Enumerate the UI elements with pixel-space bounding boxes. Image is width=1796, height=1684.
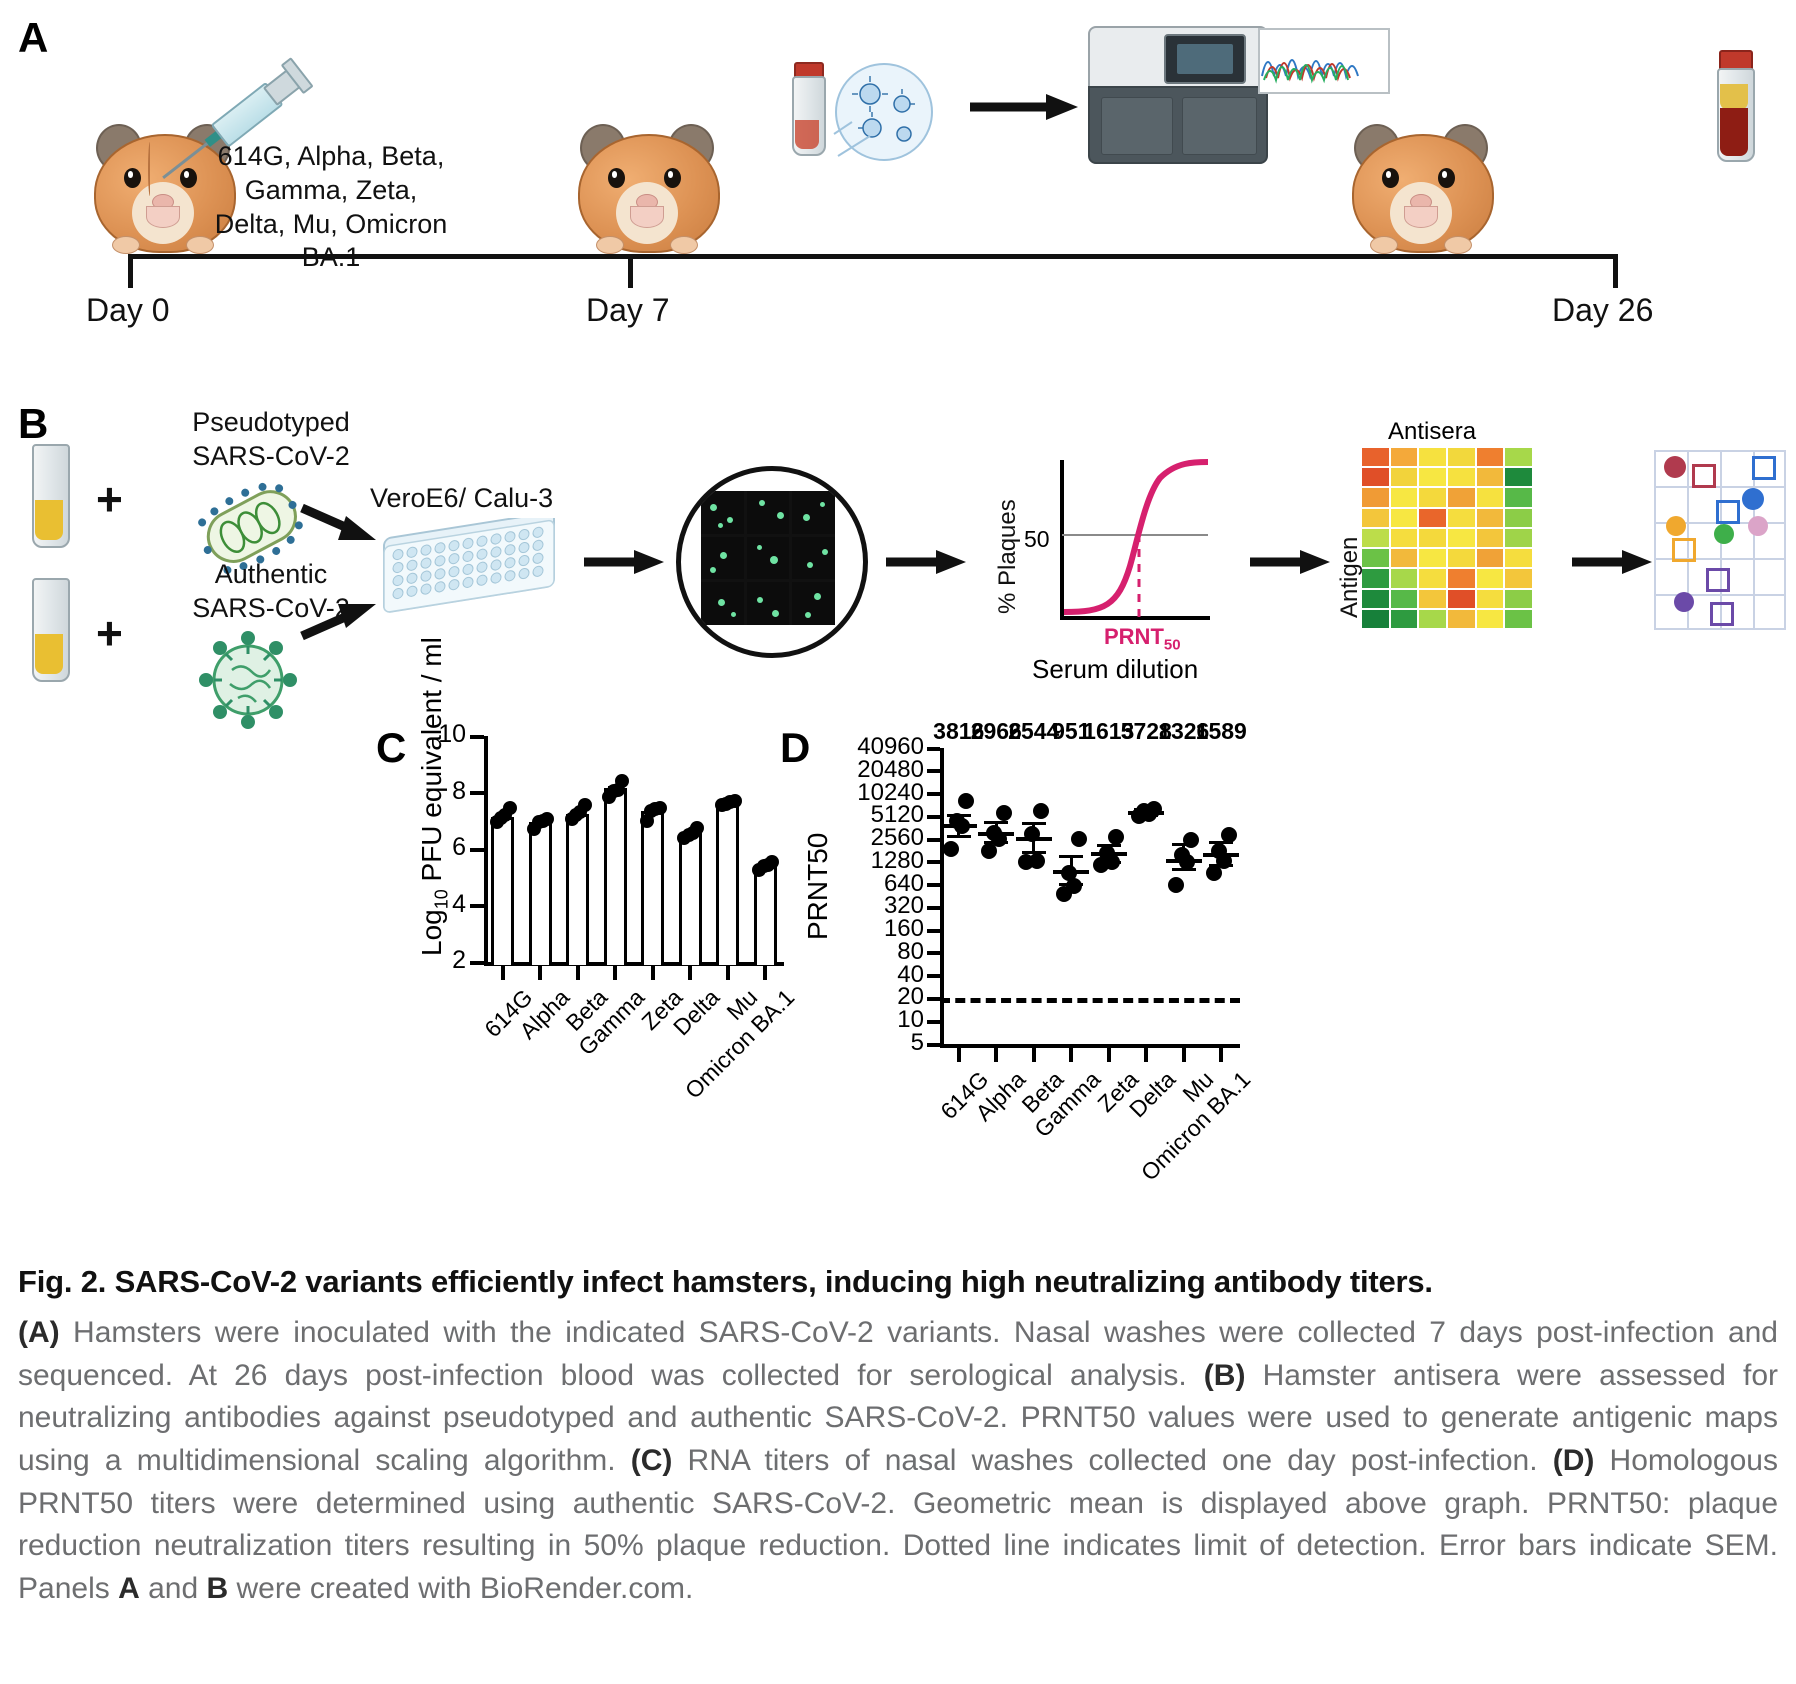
panel-c-xtick xyxy=(763,966,767,980)
arrow-icon xyxy=(300,596,378,648)
panel-c-ytick-label-4: 4 xyxy=(410,890,466,919)
panel-d-data-point xyxy=(1029,853,1045,869)
panel-d-ytick xyxy=(927,815,940,819)
panel-c-bar xyxy=(641,811,664,965)
cells-label: VeroE6/ Calu-3 xyxy=(370,482,553,516)
arrow-icon xyxy=(1248,548,1332,576)
panel-c-ytick-label-2: 2 xyxy=(410,946,466,975)
panel-d-data-point xyxy=(1146,801,1162,817)
chromatogram-icon xyxy=(1258,28,1390,94)
timeline-tick-day0 xyxy=(128,254,133,288)
panel-d-data-point xyxy=(1221,827,1237,843)
panel-c-ytick xyxy=(470,904,484,908)
panel-c-bar xyxy=(604,788,627,965)
heatmap-side-label: Antigen xyxy=(1336,537,1364,618)
panel-c-ytick-label-6: 6 xyxy=(410,833,466,862)
panel-d-ytick xyxy=(927,906,940,910)
panel-c-xtick xyxy=(538,966,542,980)
panel-d-data-point xyxy=(1168,877,1184,893)
panel-c-data-point xyxy=(765,855,779,869)
panel-d-xtick xyxy=(1182,1048,1186,1062)
panel-c-plot-area: 246810 xyxy=(484,736,784,962)
panel-c-ytick-label-10: 10 xyxy=(410,720,466,749)
panel-c-data-point xyxy=(728,794,742,808)
panel-d-data-point xyxy=(958,793,974,809)
authentic-virus-icon xyxy=(188,622,308,738)
panel-c-xtick xyxy=(726,966,730,980)
panel-c-data-point xyxy=(690,821,704,835)
timeline-label-day26: Day 26 xyxy=(1552,292,1653,329)
panel-d-data-point xyxy=(1071,831,1087,847)
panel-a: A 614G, Alpha, Beta, Gamma, Zeta, Delta,… xyxy=(0,0,1796,400)
panel-c-xtick xyxy=(651,966,655,980)
arrow-icon xyxy=(582,548,666,576)
panel-c-ytick xyxy=(470,791,484,795)
panel-c-data-point xyxy=(540,812,554,826)
panel-d-xtick xyxy=(1032,1048,1036,1062)
panel-c-ytick xyxy=(470,735,484,739)
figure-caption: Fig. 2. SARS-CoV-2 variants efficiently … xyxy=(18,1262,1778,1610)
panel-d-xtick xyxy=(1219,1048,1223,1062)
panel-c-ytick xyxy=(470,848,484,852)
virus-bubble-icon xyxy=(812,60,942,180)
panel-d-plot-area: 5102040801603206401280256051201024020480… xyxy=(940,748,1240,1044)
panel-d-ytick xyxy=(927,1020,940,1024)
hamster-icon xyxy=(1346,120,1496,255)
neutralization-curve-plot: % Plaques 50 PRNT50 Serum dilution xyxy=(986,446,1216,646)
panel-d-data-point xyxy=(986,825,1002,841)
panel-d-ytick xyxy=(927,974,940,978)
panel-d-xtick xyxy=(1107,1048,1111,1062)
panel-c-data-point xyxy=(653,801,667,815)
timeline-label-day7: Day 7 xyxy=(586,292,670,329)
panel-d-ytick xyxy=(927,929,940,933)
panel-d-xtick xyxy=(1069,1048,1073,1062)
panel-d-data-point xyxy=(1099,845,1115,861)
panel-d-data-point xyxy=(943,841,959,857)
panel-d-ytick-label-40960: 40960 xyxy=(806,733,924,761)
panel-d-ytick xyxy=(927,1043,940,1047)
panel-d-geomean-label-7: 1589 xyxy=(1177,718,1265,745)
panel-d-data-point xyxy=(1033,803,1049,819)
panel-d-ytick xyxy=(927,838,940,842)
hamster-icon xyxy=(572,120,722,255)
arrow-icon xyxy=(300,496,378,548)
panel-c-data-point xyxy=(503,801,517,815)
panel-c-data-point xyxy=(615,774,629,788)
heatmap-top-label: Antisera xyxy=(1388,418,1476,446)
panel-c-y-axis xyxy=(484,736,488,962)
panel-d-data-point xyxy=(1024,826,1040,842)
panel-b-letter: B xyxy=(18,400,48,448)
panel-c-xtick xyxy=(613,966,617,980)
panel-d-error-cap xyxy=(984,821,1008,824)
panel-d-x-axis xyxy=(940,1044,1240,1048)
panel-d-data-point xyxy=(1108,829,1124,845)
panel-d-data-point xyxy=(949,813,965,829)
panel-c-ytick xyxy=(470,961,484,965)
heatmap: Antisera Antigen xyxy=(1336,418,1546,648)
panel-c: C Log10 PFU equivalent / ml 246810 614GA… xyxy=(380,700,800,1120)
panel-d-ytick xyxy=(927,792,940,796)
serum-tube-icon xyxy=(32,444,70,548)
panel-d-data-point xyxy=(1174,847,1190,863)
timeline-tick-day7 xyxy=(628,254,633,288)
panel-d-ytick xyxy=(927,747,940,751)
caption-body: (A) Hamsters were inoculated with the in… xyxy=(18,1312,1778,1610)
curve-x-axis-label: Serum dilution xyxy=(1032,654,1198,685)
panel-d-error-cap xyxy=(1059,855,1083,858)
panel-d-data-point xyxy=(996,805,1012,821)
microplate-icon xyxy=(376,518,566,628)
arrow-icon xyxy=(1570,548,1654,576)
figure-2: A 614G, Alpha, Beta, Gamma, Zeta, Delta,… xyxy=(0,0,1796,1684)
timeline-axis xyxy=(128,254,1618,259)
panel-d-ytick xyxy=(927,883,940,887)
panel-c-bar xyxy=(491,817,514,965)
panel-d-xtick xyxy=(1144,1048,1148,1062)
blood-tube-icon xyxy=(1714,50,1754,160)
panel-c-xtick xyxy=(501,966,505,980)
panel-d-data-point xyxy=(1211,843,1227,859)
sequencer-icon xyxy=(1088,26,1268,162)
panel-d-ytick xyxy=(927,860,940,864)
plus-sign-1: + xyxy=(96,472,123,526)
panel-c-data-point xyxy=(578,798,592,812)
panel-c-bar xyxy=(679,833,702,965)
panel-c-bar xyxy=(566,814,589,965)
timeline-label-day0: Day 0 xyxy=(86,292,170,329)
panel-d-xtick xyxy=(994,1048,998,1062)
serum-tube-icon xyxy=(32,578,70,682)
pseudotyped-label: Pseudotyped SARS-CoV-2 xyxy=(146,406,396,474)
panel-d-xtick xyxy=(957,1048,961,1062)
curve-midpoint-label: 50 xyxy=(1024,526,1050,553)
timeline-tick-day26 xyxy=(1613,254,1618,288)
panel-c-xtick xyxy=(576,966,580,980)
panel-c-bar xyxy=(754,866,777,965)
panel-d-error-cap xyxy=(947,835,971,838)
caption-title: Fig. 2. SARS-CoV-2 variants efficiently … xyxy=(18,1262,1778,1302)
panel-d-data-point xyxy=(1183,832,1199,848)
plus-sign-2: + xyxy=(96,606,123,660)
panel-c-xtick xyxy=(688,966,692,980)
panel-c-letter: C xyxy=(376,724,406,772)
limit-of-detection-line xyxy=(940,998,1240,1003)
panel-d-ytick xyxy=(927,997,940,1001)
prnt50-annotation: PRNT50 xyxy=(1104,624,1181,653)
plaque-dish-icon xyxy=(676,466,868,658)
panel-c-bar xyxy=(716,802,739,965)
panel-a-letter: A xyxy=(18,14,48,62)
panel-c-ytick-label-8: 8 xyxy=(410,777,466,806)
panel-d-error-cap xyxy=(1022,822,1046,825)
panel-d: D PRNT50 5102040801603206401280256051201… xyxy=(810,700,1330,1120)
arrow-icon xyxy=(968,92,1080,122)
panel-d-ytick xyxy=(927,951,940,955)
arrow-icon xyxy=(884,548,968,576)
antigenic-map xyxy=(1654,450,1786,630)
panel-c-bar xyxy=(529,822,552,965)
panel-d-ytick xyxy=(927,769,940,773)
curve-y-axis-label: % Plaques xyxy=(994,499,1022,614)
